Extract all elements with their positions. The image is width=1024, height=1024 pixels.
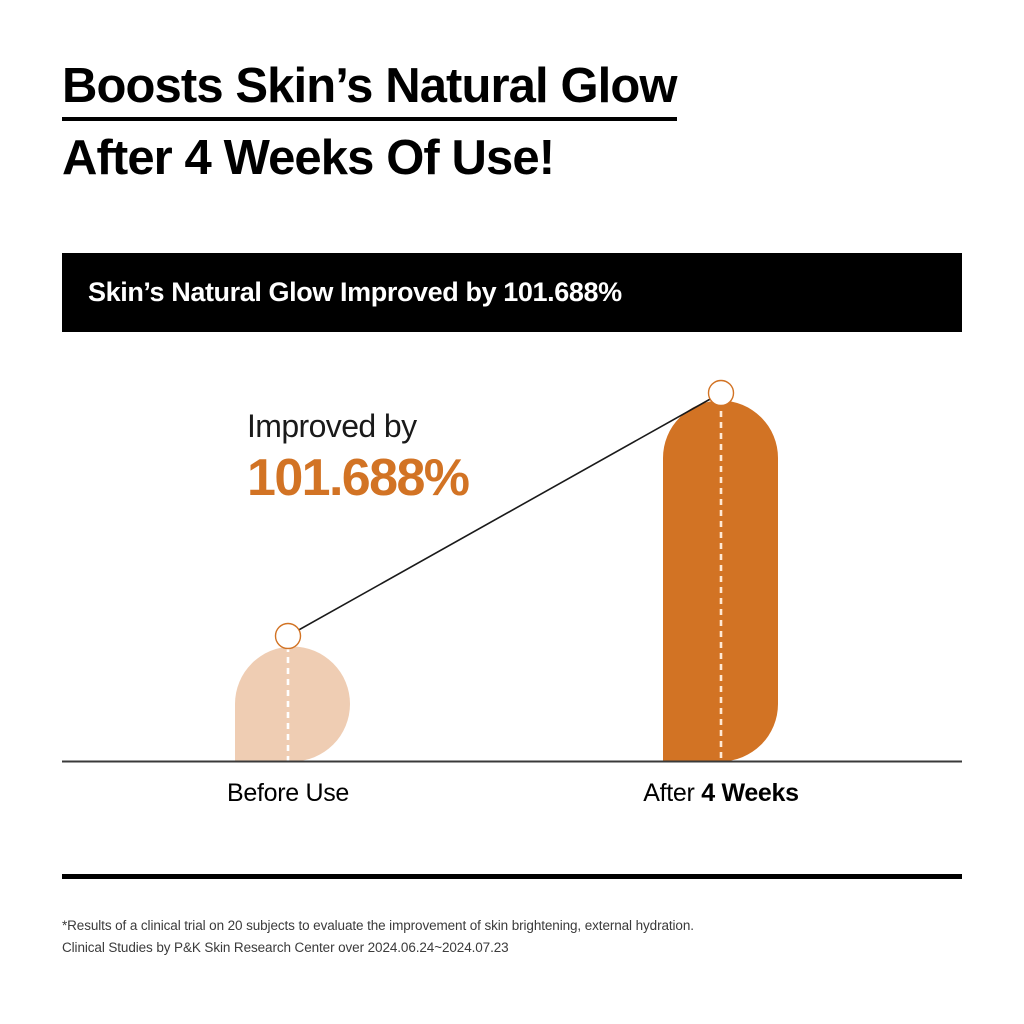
comparison-bar-chart: Improved by 101.688% Before Use After 4 … [0,0,1024,1024]
marker-after-4-weeks [709,381,734,406]
axis-label-after-prefix: After [643,779,701,807]
bar-before-use [235,646,350,762]
bar-after-4-weeks [663,400,778,762]
axis-label-before-use: Before Use [168,779,408,808]
chart-graphics [0,0,1024,1024]
bar-before-use-shape [235,647,350,762]
footnote-block: *Results of a clinical trial on 20 subje… [62,915,942,960]
footer-divider [62,874,962,879]
footnote-line-1: *Results of a clinical trial on 20 subje… [62,915,942,937]
callout-label: Improved by [247,408,416,445]
axis-label-after-emphasis: 4 Weeks [701,779,799,807]
infographic-canvas: Boosts Skin’s Natural Glow After 4 Weeks… [0,0,1024,1024]
callout-value: 101.688% [247,448,468,508]
footnote-line-2: Clinical Studies by P&K Skin Research Ce… [62,937,942,959]
marker-before-use [276,624,301,649]
axis-label-after-4-weeks: After 4 Weeks [601,779,841,808]
